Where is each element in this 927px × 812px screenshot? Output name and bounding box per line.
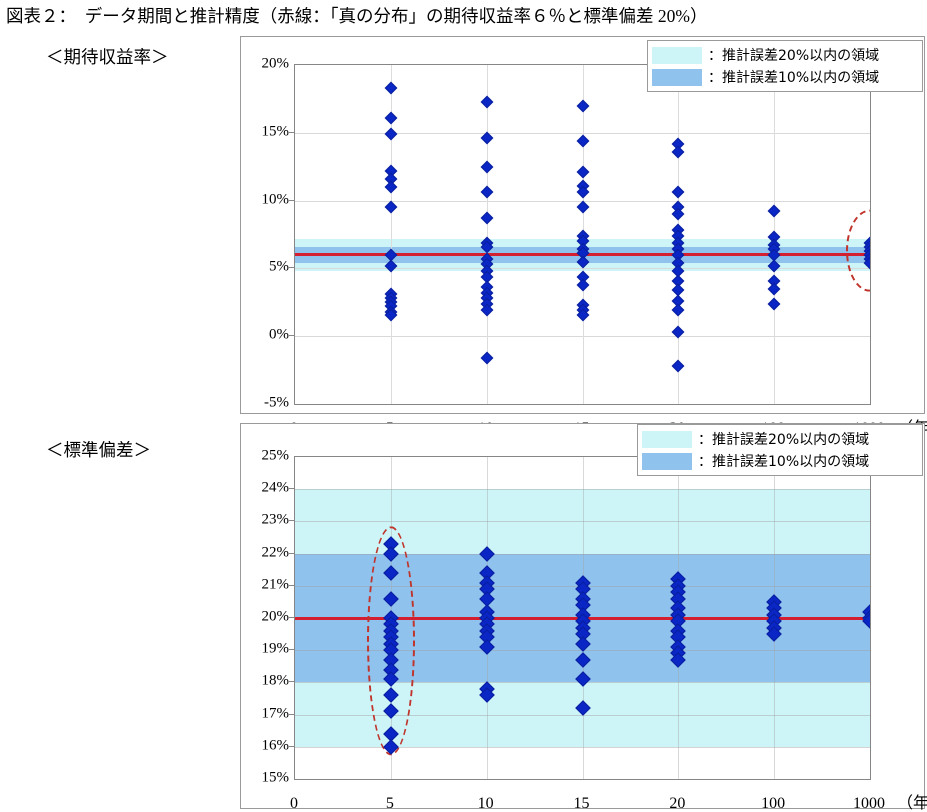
plot-area-stddev <box>294 456 871 780</box>
data-point <box>384 201 397 214</box>
legend-label-band20: ：推計誤差20%以内の領域 <box>698 429 869 449</box>
legend-swatch-band10-icon <box>642 453 692 470</box>
x-tick-label: 0 <box>290 796 298 812</box>
data-point <box>480 95 493 108</box>
y-tick-label: 23% <box>262 513 290 528</box>
y-tick-label: 19% <box>262 642 290 657</box>
chart-expected-return: 20%15%10%5%0%-5% 051015201001000（年） ：推計誤… <box>240 36 925 414</box>
legend-swatch-band10-icon <box>652 69 702 86</box>
y-tick-label: -5% <box>264 396 289 411</box>
x-tick-label: 20 <box>669 796 685 812</box>
legend-label-band20: ：推計誤差20%以内の領域 <box>708 45 879 65</box>
legend-swatch-band20-icon <box>652 47 702 64</box>
plot-area-expected-return <box>294 64 871 405</box>
y-axis-stddev: 25%24%23%22%21%20%19%18%17%16%15% <box>241 456 289 780</box>
y-tick-label: 17% <box>262 706 290 721</box>
data-point <box>576 166 589 179</box>
chart-stddev: 25%24%23%22%21%20%19%18%17%16%15% 051015… <box>240 423 925 809</box>
section-label-expected-return: ＜期待収益率＞ <box>46 44 169 69</box>
data-point <box>768 297 781 310</box>
legend-row-band10: ：推計誤差10%以内の領域 <box>642 450 916 472</box>
data-point <box>672 360 685 373</box>
y-tick-label: 20% <box>262 57 290 72</box>
y-tick-label: 0% <box>269 328 289 343</box>
data-point <box>480 160 493 173</box>
y-tick-label: 18% <box>262 674 290 689</box>
y-tick-label: 5% <box>269 260 289 275</box>
data-point <box>576 99 589 112</box>
y-tick-label: 15% <box>262 124 290 139</box>
legend-row-band20: ：推計誤差20%以内の領域 <box>652 44 916 66</box>
x-axis-unit-label: （年） <box>897 796 927 812</box>
data-point <box>576 278 589 291</box>
y-tick-label: 15% <box>262 771 290 786</box>
legend-row-band10: ：推計誤差10%以内の領域 <box>652 66 916 88</box>
legend-expected-return: ：推計誤差20%以内の領域 ：推計誤差10%以内の領域 <box>647 40 923 92</box>
y-tick-label: 24% <box>262 481 290 496</box>
data-point <box>672 304 685 317</box>
legend-row-band20: ：推計誤差20%以内の領域 <box>642 428 916 450</box>
data-point <box>672 186 685 199</box>
data-point <box>384 128 397 141</box>
data-point <box>384 112 397 125</box>
gridline-vertical <box>870 65 871 404</box>
data-point <box>768 282 781 295</box>
data-point <box>768 205 781 218</box>
y-tick-label: 16% <box>262 738 290 753</box>
y-tick-label: 10% <box>262 192 290 207</box>
data-point <box>672 145 685 158</box>
data-point <box>576 135 589 148</box>
data-point <box>480 352 493 365</box>
legend-swatch-band20-icon <box>642 431 692 448</box>
x-tick-label: 5 <box>386 796 394 812</box>
data-point <box>480 212 493 225</box>
figure-caption: 図表２： データ期間と推計精度（赤線：「真の分布」の期待収益率６％と標準偏差 2… <box>6 3 924 29</box>
x-tick-label: 15 <box>574 796 590 812</box>
gridline-vertical <box>870 457 871 779</box>
legend-stddev: ：推計誤差20%以内の領域 ：推計誤差10%以内の領域 <box>637 424 923 476</box>
y-tick-label: 21% <box>262 577 290 592</box>
legend-label-band10: ：推計誤差10%以内の領域 <box>698 451 869 471</box>
data-point <box>384 82 397 95</box>
x-tick-label: 1000 <box>853 796 885 812</box>
y-tick-label: 22% <box>262 545 290 560</box>
y-tick-label: 25% <box>262 449 290 464</box>
data-point <box>480 186 493 199</box>
legend-label-band10: ：推計誤差10%以内の領域 <box>708 67 879 87</box>
y-tick-label: 20% <box>262 610 290 625</box>
y-axis-expected-return: 20%15%10%5%0%-5% <box>241 64 289 405</box>
section-label-stddev: ＜標準偏差＞ <box>46 437 151 462</box>
data-point <box>576 201 589 214</box>
x-tick-label: 10 <box>478 796 494 812</box>
x-tick-label: 100 <box>761 796 785 812</box>
data-point <box>384 181 397 194</box>
